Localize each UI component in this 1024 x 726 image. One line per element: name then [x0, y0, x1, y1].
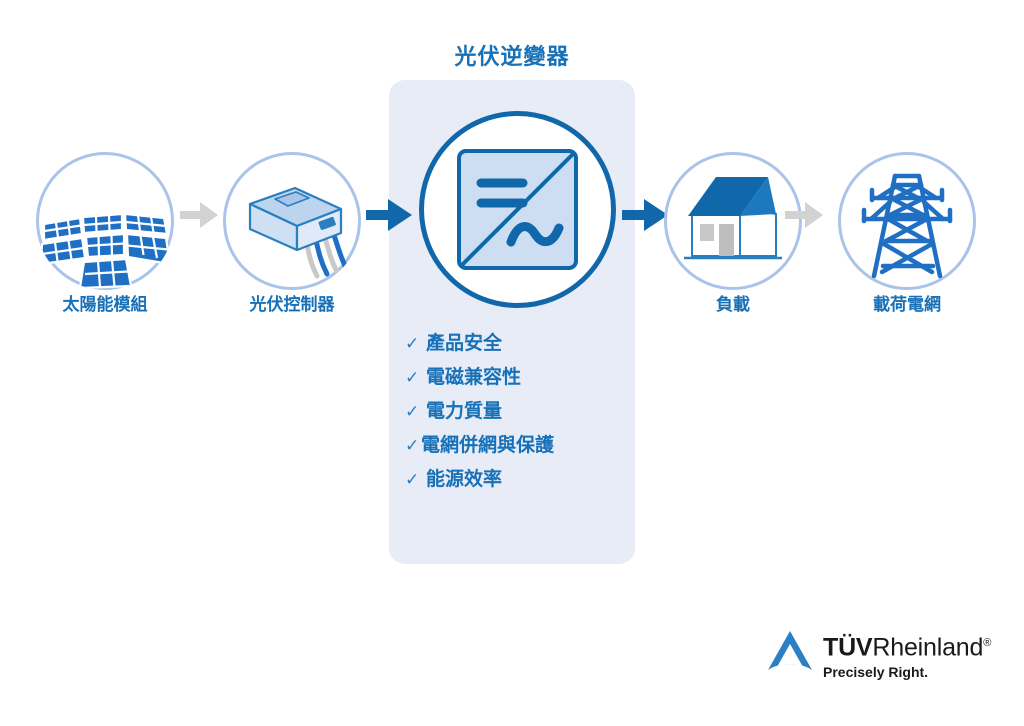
- pv-controller-icon: [223, 152, 361, 290]
- solar-panel-icon: [36, 152, 174, 290]
- arrow-inverter-to-load: [622, 198, 670, 232]
- inverter-icon: [419, 111, 616, 308]
- arrow-load-to-grid: [785, 200, 825, 230]
- node-inverter[interactable]: [419, 111, 616, 308]
- checklist-item: ✓ 電力質量: [405, 399, 630, 424]
- arrow-controller-to-inverter: [366, 198, 414, 232]
- node-load-house[interactable]: [664, 152, 802, 290]
- logo-wordmark: TÜVRheinland®: [823, 629, 991, 661]
- diagram-canvas: 光伏逆變器: [0, 0, 1024, 726]
- house-icon: [664, 152, 802, 290]
- checklist-item: ✓ 能源效率: [405, 467, 630, 492]
- logo-brand-light: Rheinland: [872, 633, 983, 661]
- node-label-power-grid: 載荷電網: [818, 294, 996, 316]
- node-pv-controller[interactable]: [223, 152, 361, 290]
- transmission-tower-icon: [838, 152, 976, 290]
- inverter-checklist: ✓ 產品安全 ✓ 電磁兼容性 ✓ 電力質量 ✓ 電網併網與保護 ✓ 能源效率: [405, 331, 630, 501]
- node-label-load: 負載: [644, 294, 822, 316]
- check-icon: ✓: [405, 331, 426, 356]
- node-power-grid[interactable]: [838, 152, 976, 290]
- checklist-item-label: 電網併網與保護: [421, 433, 554, 458]
- check-icon: ✓: [405, 399, 426, 424]
- logo-brand-bold: TÜV: [823, 633, 872, 661]
- logo-tagline: Precisely Right.: [823, 663, 928, 681]
- checklist-item-label: 電力質量: [426, 399, 502, 424]
- checklist-item: ✓ 電網併網與保護: [405, 433, 630, 458]
- check-icon: ✓: [405, 433, 421, 458]
- node-label-pv-controller: 光伏控制器: [203, 294, 381, 316]
- checklist-item-label: 能源效率: [426, 467, 502, 492]
- tuv-triangle-icon: [765, 629, 815, 673]
- checklist-item-label: 產品安全: [426, 331, 502, 356]
- arrow-solar-to-controller: [180, 200, 220, 230]
- checklist-item: ✓ 產品安全: [405, 331, 630, 356]
- registered-mark: ®: [983, 637, 991, 649]
- node-solar-module[interactable]: [36, 152, 174, 290]
- checklist-item: ✓ 電磁兼容性: [405, 365, 630, 390]
- node-label-solar-module: 太陽能模組: [16, 294, 194, 316]
- checklist-item-label: 電磁兼容性: [426, 365, 521, 390]
- check-icon: ✓: [405, 365, 426, 390]
- check-icon: ✓: [405, 467, 426, 492]
- tuv-rheinland-logo: TÜVRheinland® Precisely Right.: [765, 627, 997, 689]
- panel-title: 光伏逆變器: [389, 43, 635, 71]
